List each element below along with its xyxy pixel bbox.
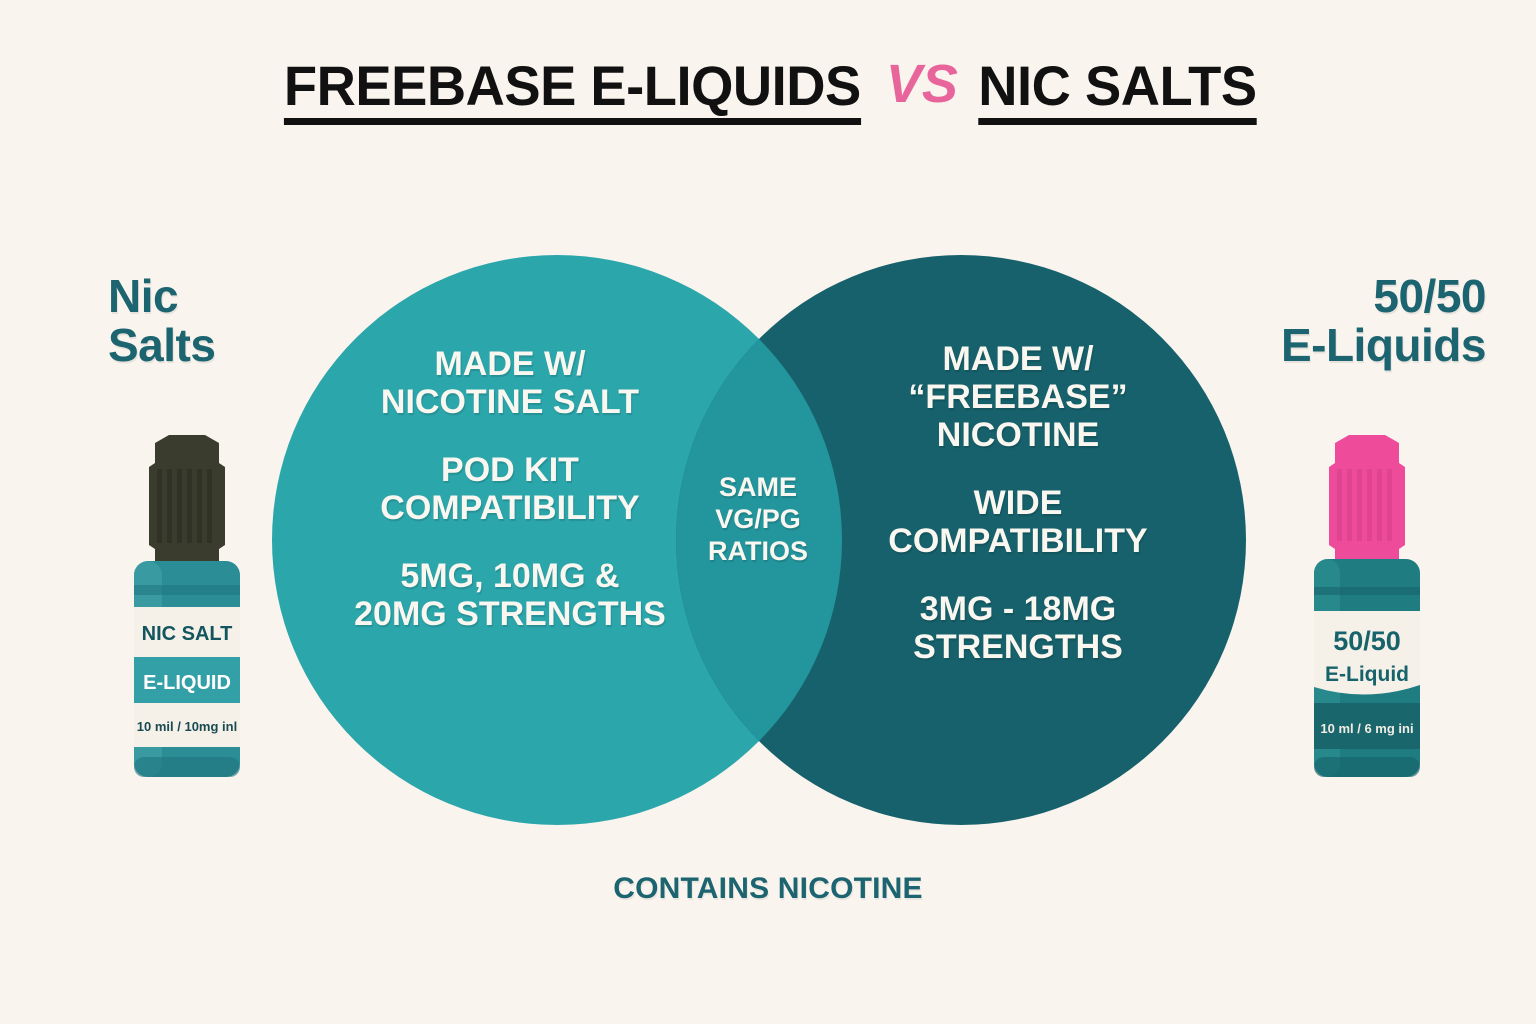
- bottle-left-line1: NIC SALT: [142, 623, 233, 645]
- bottle-left-shoulder-band: [134, 585, 240, 595]
- overlap-content: SAME VG/PG RATIOS: [676, 472, 840, 568]
- right-circle-content: MADE W/ “FREEBASE” NICOTINE WIDE COMPATI…: [838, 340, 1198, 667]
- bottle-left-base-band: [134, 757, 240, 777]
- right-circle-item-2: WIDE COMPATIBILITY: [838, 484, 1198, 560]
- bottle-left-line3: 10 mil / 10mg inl: [137, 719, 237, 734]
- bottle-right-line3: 10 ml / 6 mg ini: [1320, 721, 1413, 736]
- bottle-5050-eliquid: 50/50 E-Liquid 10 ml / 6 mg ini: [1297, 435, 1437, 785]
- bottle-right-line1: 50/50: [1333, 626, 1401, 656]
- right-circle-item-3: 3MG - 18MG STRENGTHS: [838, 590, 1198, 666]
- left-circle-item-2: POD KIT COMPATIBILITY: [330, 451, 690, 527]
- bottle-right-shoulder-band: [1314, 587, 1420, 595]
- bottle-right-line2: E-Liquid: [1325, 663, 1409, 686]
- left-circle-content: MADE W/ NICOTINE SALT POD KIT COMPATIBIL…: [330, 345, 690, 633]
- left-circle-item-3: 5MG, 10MG & 20MG STRENGTHS: [330, 557, 690, 633]
- bottle-right-base-band: [1314, 757, 1420, 777]
- side-label-5050-eliquids: 50/50 E-Liquids: [1186, 272, 1486, 370]
- bottle-nic-salt: NIC SALT E-LIQUID 10 mil / 10mg inl: [117, 435, 257, 785]
- right-circle-item-1: MADE W/ “FREEBASE” NICOTINE: [838, 340, 1198, 454]
- nicotine-warning: CONTAINS NICOTINE: [0, 872, 1536, 906]
- left-circle-item-1: MADE W/ NICOTINE SALT: [330, 345, 690, 421]
- side-label-nic-salts: Nic Salts: [108, 272, 328, 370]
- bottle-left-line2: E-LIQUID: [143, 672, 231, 694]
- overlap-item-1: SAME VG/PG RATIOS: [676, 472, 840, 568]
